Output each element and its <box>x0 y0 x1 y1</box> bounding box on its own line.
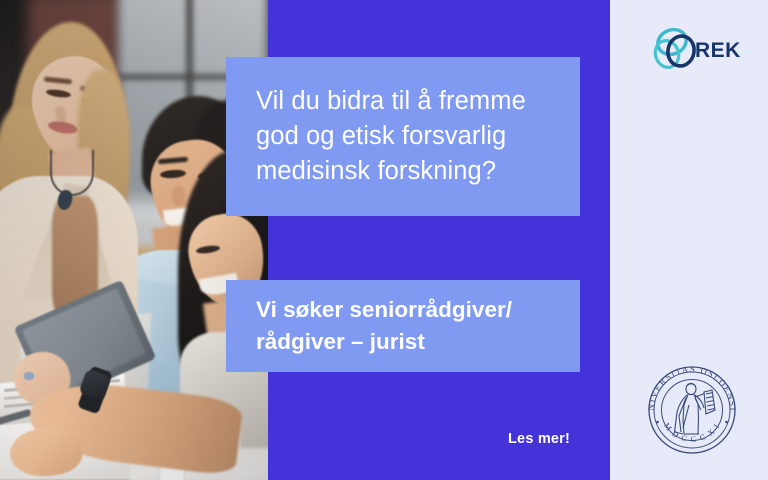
job-title-line-2: rådgiver – jurist <box>256 326 550 358</box>
uio-seal-arc-bottom: M D C C C X I <box>662 421 722 444</box>
headline-line-1: Vil du bidra til å fremme <box>256 84 550 119</box>
logo-side-panel: REK UNIVERSITAS OSLOENSIS M D C <box>610 0 768 480</box>
uio-seal-arc-top: UNIVERSITAS OSLOENSIS <box>640 358 738 412</box>
uio-seal: UNIVERSITAS OSLOENSIS M D C C C X I <box>640 358 744 462</box>
rek-interlocking-rings-icon <box>652 25 697 70</box>
headline-box: Vil du bidra til å fremme god og etisk f… <box>226 57 580 216</box>
headline-line-2: god og etisk forsvarlig <box>256 119 550 154</box>
job-title-line-1: Vi søker seniorrådgiver/ <box>256 294 550 326</box>
rek-logo[interactable]: REK <box>650 24 750 72</box>
uio-seal-apollo-figure <box>675 383 716 434</box>
read-more-link[interactable]: Les mer! <box>508 431 570 447</box>
headline-line-3: medisinsk forskning? <box>256 154 550 189</box>
job-title-box: Vi søker seniorrådgiver/ rådgiver – juri… <box>226 280 580 372</box>
rek-wordmark: REK <box>695 39 741 62</box>
job-advert-banner: Vil du bidra til å fremme god og etisk f… <box>0 0 768 480</box>
